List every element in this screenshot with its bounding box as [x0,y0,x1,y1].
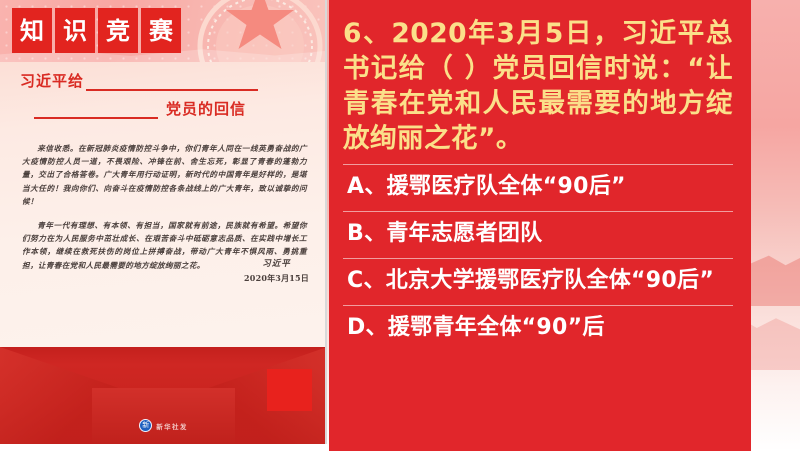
letter-title: 习近平给 党员的回信 [20,70,315,119]
tab-char-2[interactable]: 识 [55,8,95,53]
letter-title-blank-1 [86,75,258,91]
option-d[interactable]: D、援鄂青年全体“90”后 [343,305,733,352]
credit-logo: 新 新华社发 [0,419,327,432]
option-b[interactable]: B、青年志愿者团队 [343,211,733,258]
letter-title-blank-2 [34,103,158,119]
tab-char-3[interactable]: 竞 [98,8,138,53]
option-a[interactable]: A、援鄂医疗队全体“90后” [343,164,733,211]
letter-image-panel: 知 识 竞 赛 习近平给 党员的回信 来信收悉。在新冠肺炎疫情防控斗争中，你们青… [0,0,327,444]
envelope-graphic: 新 新华社发 [0,347,327,444]
quiz-tab-group: 知 识 竞 赛 [12,8,181,53]
letter-title-line-1: 习近平给 [20,70,315,91]
slide-root: 知 识 竞 赛 习近平给 党员的回信 来信收悉。在新冠肺炎疫情防控斗争中，你们青… [0,0,800,451]
signature-date: 2020年3月15日 [244,273,309,284]
letter-signature-block: 习近平 2020年3月15日 [244,257,309,284]
letter-sheet: 习近平给 党员的回信 来信收悉。在新冠肺炎疫情防控斗争中，你们青年人同在一线英勇… [0,62,327,347]
signature-name: 习近平 [244,257,309,269]
envelope-stamp [267,369,312,411]
letter-title-suffix: 党员的回信 [166,98,246,119]
tab-char-4[interactable]: 赛 [141,8,181,53]
letter-paragraph-1: 来信收悉。在新冠肺炎疫情防控斗争中，你们青年人同在一线英勇奋战的广大疫情防控人员… [22,142,307,208]
xinhua-logo-icon: 新 [139,419,152,432]
credit-logo-text: 新华社发 [156,421,188,431]
tab-char-1[interactable]: 知 [12,8,52,53]
option-list: A、援鄂医疗队全体“90后” B、青年志愿者团队 C、北京大学援鄂医疗队全体“9… [343,164,733,352]
panel-right-edge [747,0,751,451]
option-c[interactable]: C、北京大学援鄂医疗队全体“90后” [343,258,733,305]
letter-title-line-2: 党员的回信 [20,98,315,119]
question-text: 6、2020年3月5日，习近平总书记给（ ）党员回信时说：“让青春在党和人民最需… [343,16,733,156]
question-panel: 6、2020年3月5日，习近平总书记给（ ）党员回信时说：“让青春在党和人民最需… [329,0,747,451]
envelope-body [92,388,235,444]
letter-title-prefix: 习近平给 [20,70,84,91]
left-panel-bottom-margin [0,444,329,451]
